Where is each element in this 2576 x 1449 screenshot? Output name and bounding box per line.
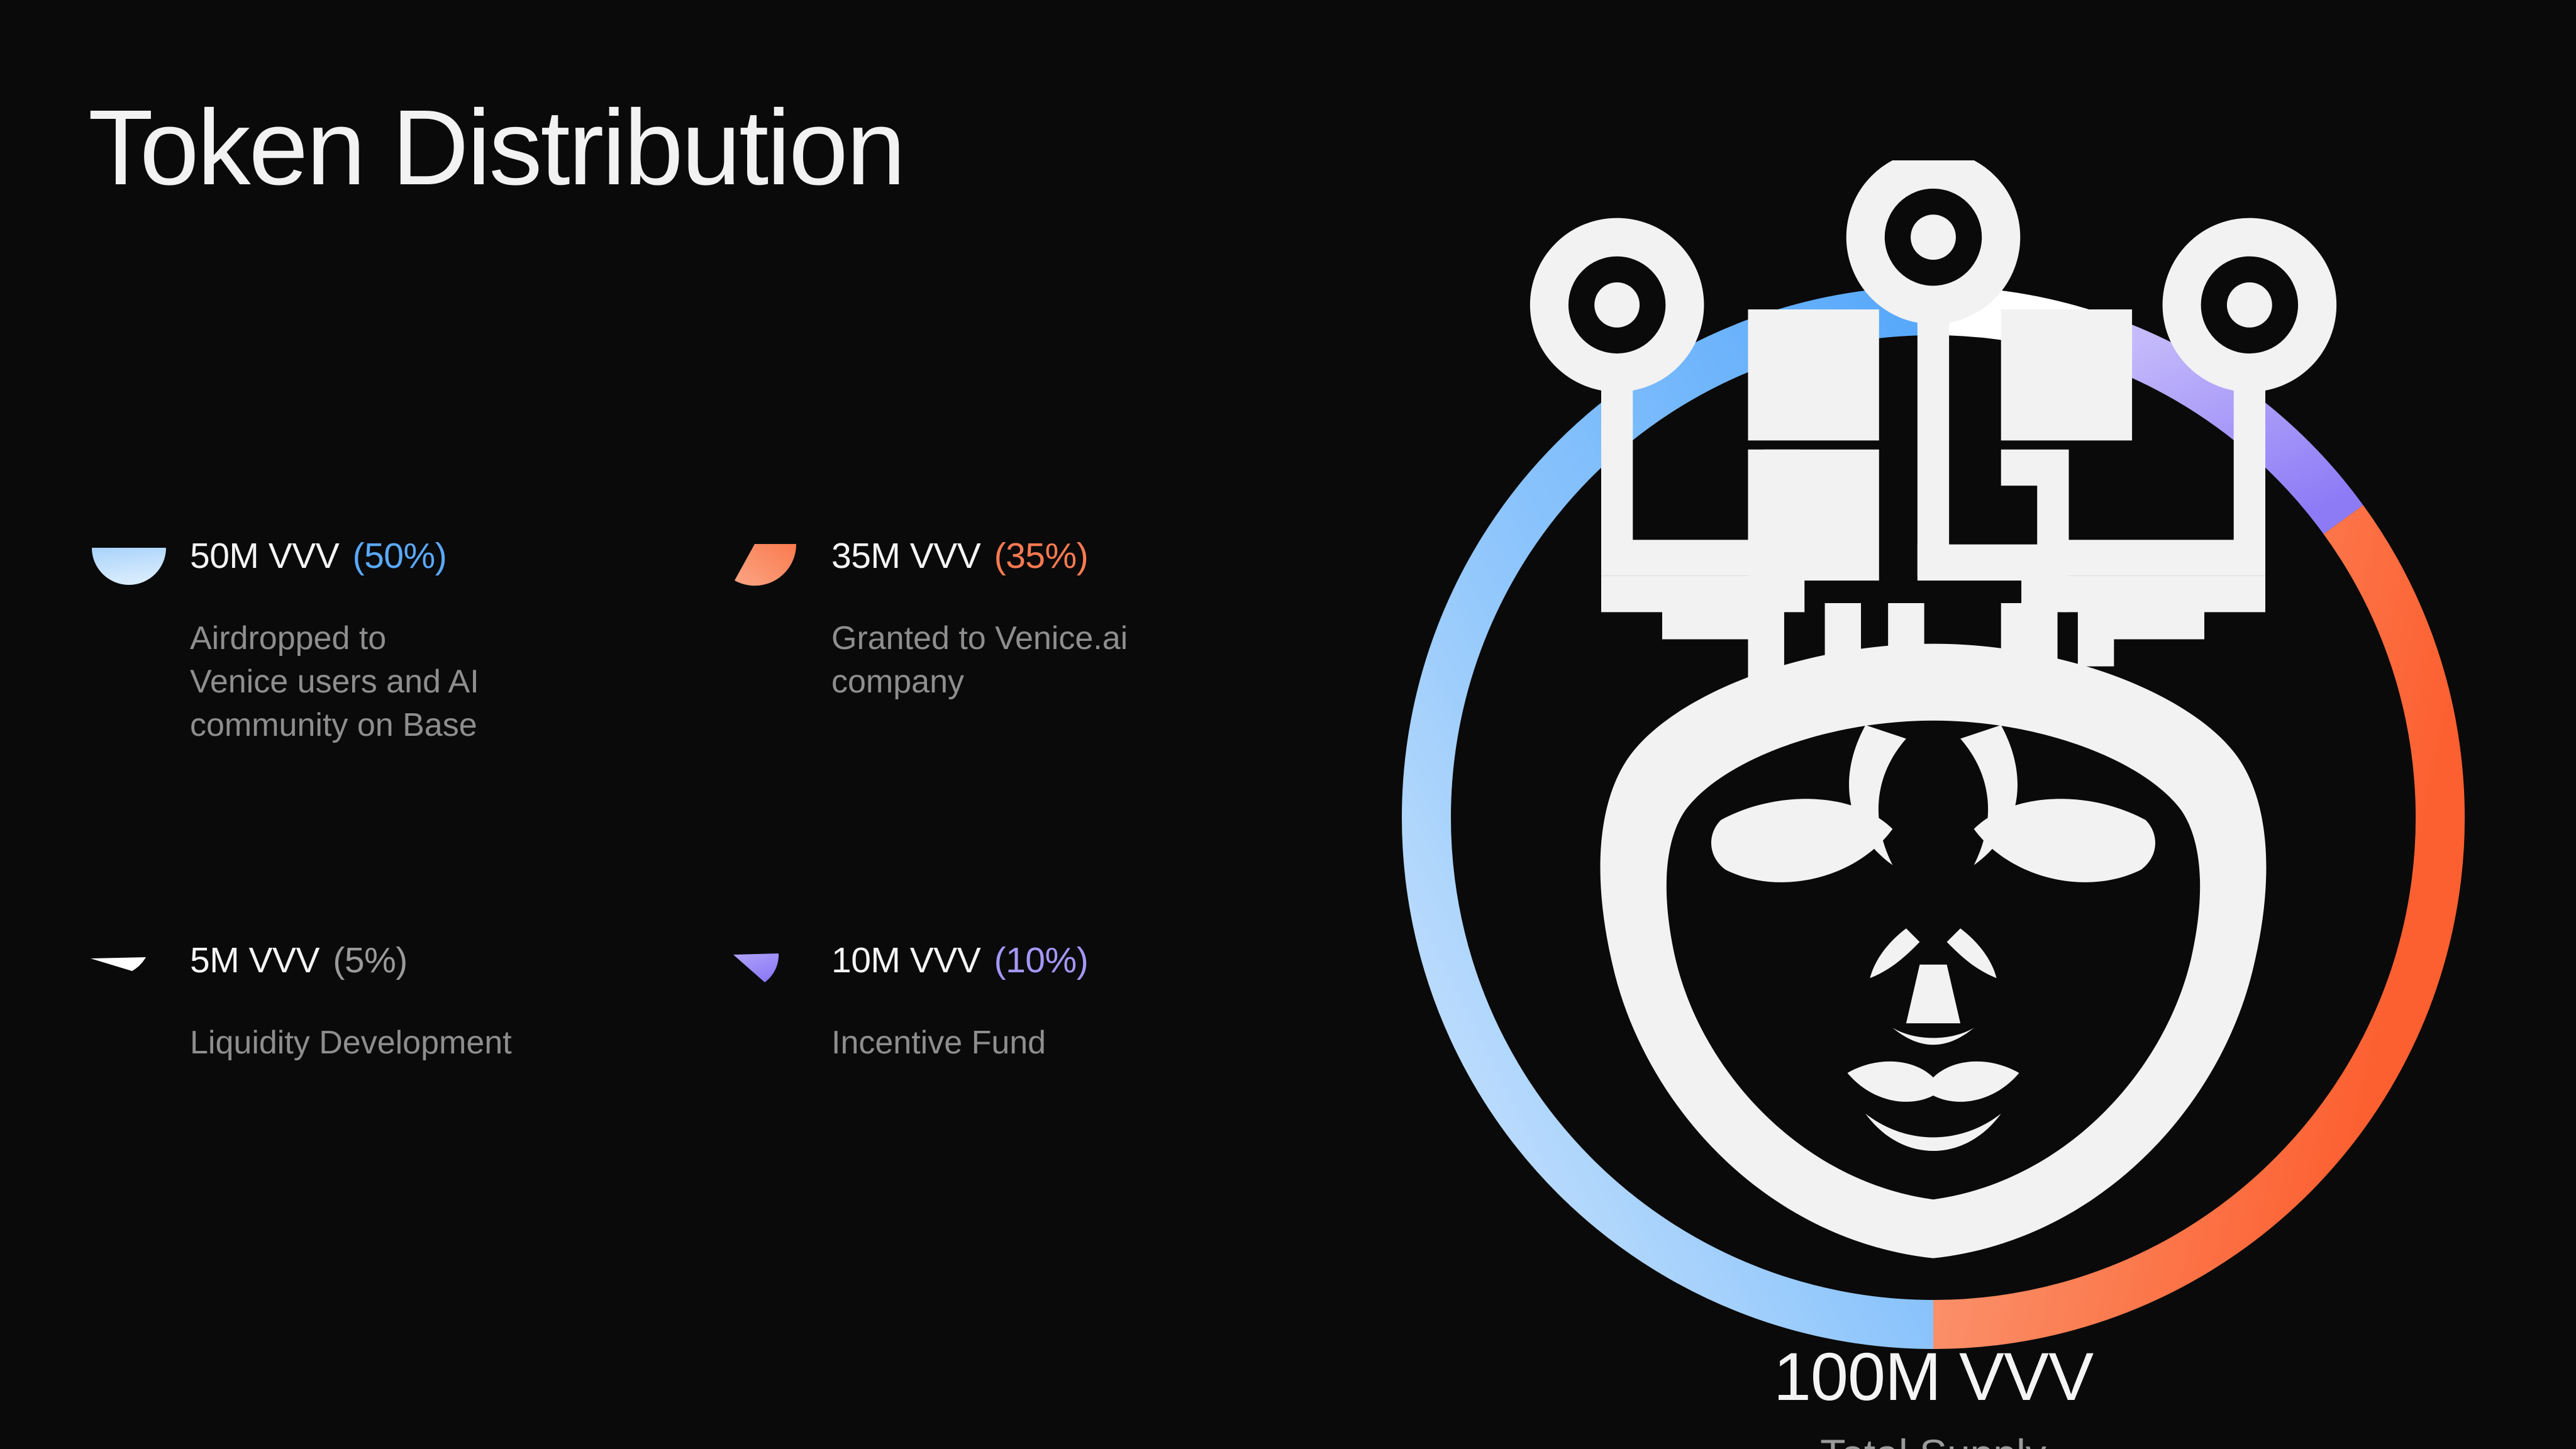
- legend-description: Airdropped to Venice users and AI commun…: [190, 617, 680, 747]
- legend-amount-value: 10M VVV: [831, 940, 991, 980]
- legend-item-liquidity[interactable]: 5M VVV (5%) Liquidity Development: [88, 936, 730, 1065]
- legend-percent: (10%): [994, 940, 1089, 980]
- legend-head: 50M VVV (50%): [88, 531, 730, 594]
- legend-head: 5M VVV (5%): [88, 936, 730, 999]
- legend-amount-value: 35M VVV: [831, 536, 991, 576]
- legend-amount: 10M VVV (10%): [831, 936, 1088, 980]
- legend: 50M VVV (50%) Airdropped to Venice users…: [88, 531, 1321, 1065]
- legend-percent: (35%): [994, 536, 1089, 576]
- legend-amount-value: 5M VVV: [190, 940, 329, 980]
- legend-amount: 50M VVV (50%): [190, 531, 447, 576]
- token-distribution-donut-chart: 100M VVV Total Supply: [1380, 264, 2487, 1371]
- legend-amount: 35M VVV (35%): [831, 531, 1088, 576]
- legend-head: 35M VVV (35%): [730, 531, 1321, 594]
- legend-amount-value: 50M VVV: [190, 536, 349, 576]
- legend-amount: 5M VVV (5%): [190, 936, 408, 980]
- legend-item-incentive[interactable]: 10M VVV (10%) Incentive Fund: [730, 936, 1321, 1065]
- donut-center: 100M VVV Total Supply: [1380, 264, 2487, 1371]
- donut-center-label: Total Supply: [1820, 1433, 2046, 1449]
- page-title: Token Distribution: [88, 94, 904, 201]
- sliver-white-icon: [88, 936, 170, 996]
- wedge-purple-icon: [730, 936, 811, 996]
- wedge-orange-icon: [730, 531, 811, 592]
- donut-center-total: 100M VVV: [1774, 1343, 2093, 1411]
- venice-mask-logo-icon: [1380, 160, 2487, 1267]
- legend-percent: (50%): [353, 536, 447, 576]
- legend-item-airdrop[interactable]: 50M VVV (50%) Airdropped to Venice users…: [88, 531, 730, 747]
- legend-description: Incentive Fund: [831, 1021, 1321, 1065]
- legend-description: Liquidity Development: [190, 1021, 680, 1065]
- legend-head: 10M VVV (10%): [730, 936, 1321, 999]
- half-disc-blue-icon: [88, 531, 170, 592]
- legend-description: Granted to Venice.ai company: [831, 617, 1321, 704]
- legend-percent: (5%): [333, 940, 407, 980]
- legend-item-venice-grant[interactable]: 35M VVV (35%) Granted to Venice.ai compa…: [730, 531, 1321, 747]
